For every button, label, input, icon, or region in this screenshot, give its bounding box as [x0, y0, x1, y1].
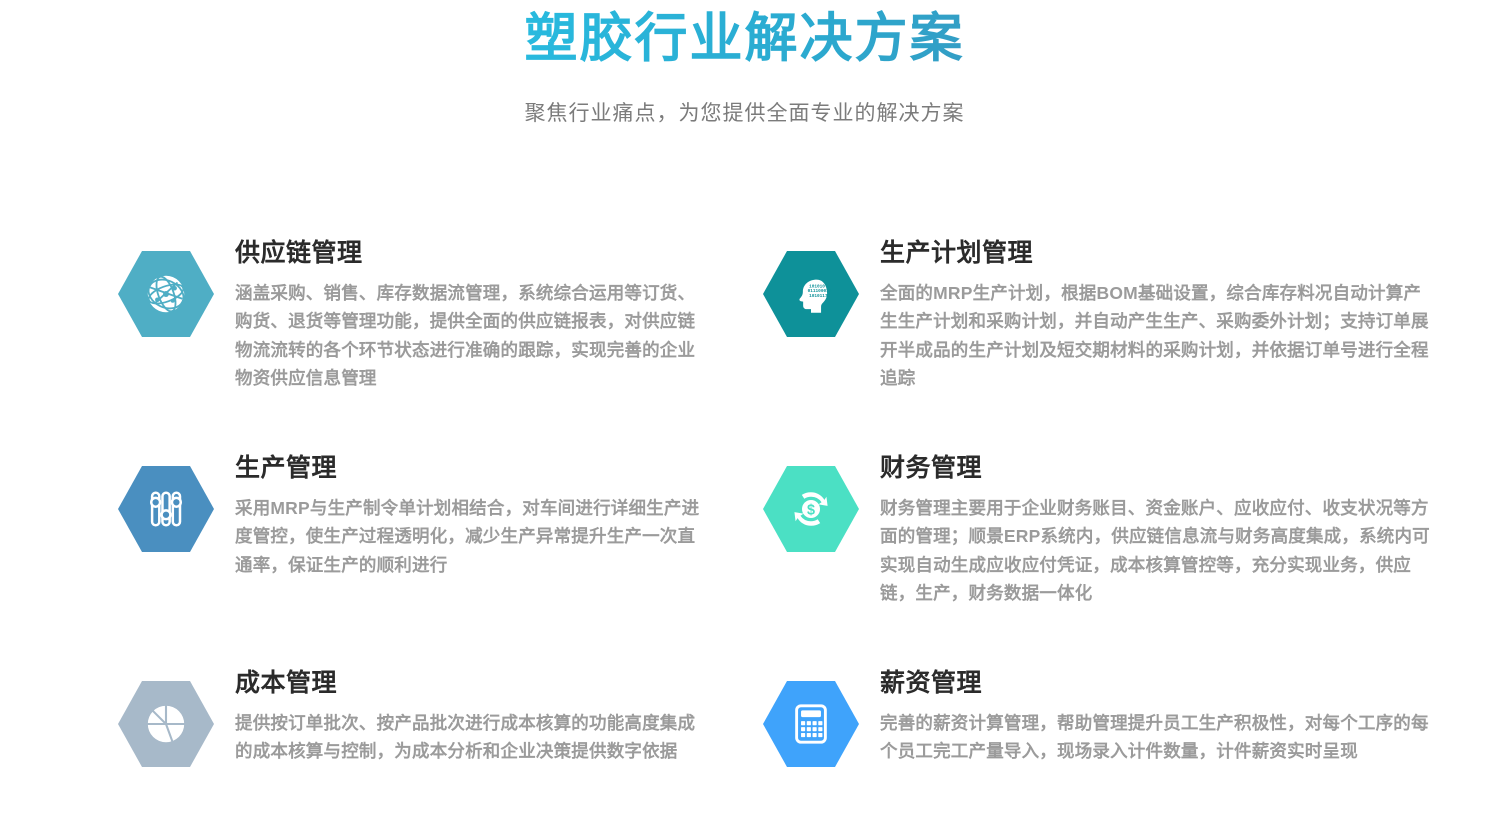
- feature-description: 提供按订单批次、按产品批次进行成本核算的功能高度集成的成本核算与控制，为成本分析…: [235, 709, 700, 766]
- pie-chart-icon: [118, 681, 214, 767]
- feature-title: 生产管理: [235, 453, 700, 483]
- page-subtitle: 聚焦行业痛点，为您提供全面专业的解决方案: [0, 97, 1489, 127]
- feature-description: 完善的薪资计算管理，帮助管理提升员工生产积极性，对每个工序的每个员工完工产量导入…: [880, 709, 1430, 766]
- svg-text:$: $: [807, 502, 815, 518]
- feature-title: 成本管理: [235, 668, 700, 698]
- feature-body: 生产计划管理 全面的MRP生产计划，根据BOM基础设置，综合库存料况自动计算产生…: [880, 236, 1430, 392]
- page-title: 塑胶行业解决方案: [0, 8, 1489, 71]
- feature-description: 涵盖采购、销售、库存数据流管理，系统综合运用等订货、购货、退货等管理功能，提供全…: [235, 279, 700, 392]
- feature-description: 财务管理主要用于企业财务账目、资金账户、应收应付、收支状况等方面的管理；顺景ER…: [880, 494, 1430, 607]
- solution-page: 塑胶行业解决方案 聚焦行业痛点，为您提供全面专业的解决方案: [0, 0, 1489, 836]
- feature-card-production[interactable]: 生产管理 采用MRP与生产制令单计划相结合，对车间进行详细生产进度管控，使生产过…: [118, 451, 763, 666]
- feature-body: 成本管理 提供按订单批次、按产品批次进行成本核算的功能高度集成的成本核算与控制，…: [235, 666, 700, 766]
- feature-body: 薪资管理 完善的薪资计算管理，帮助管理提升员工生产积极性，对每个工序的每个员工完…: [880, 666, 1430, 766]
- feature-card-supply-chain[interactable]: 供应链管理 涵盖采购、销售、库存数据流管理，系统综合运用等订货、购货、退货等管理…: [118, 236, 763, 451]
- feature-description: 采用MRP与生产制令单计划相结合，对车间进行详细生产进度管控，使生产过程透明化，…: [235, 494, 700, 579]
- feature-title: 供应链管理: [235, 238, 700, 268]
- feature-title: 薪资管理: [880, 668, 1430, 698]
- feature-body: 财务管理 财务管理主要用于企业财务账目、资金账户、应收应付、收支状况等方面的管理…: [880, 451, 1430, 607]
- feature-card-cost[interactable]: 成本管理 提供按订单批次、按产品批次进行成本核算的功能高度集成的成本核算与控制，…: [118, 666, 763, 767]
- head-binary-icon: 101010 011100010 1010117: [763, 251, 859, 337]
- feature-body: 供应链管理 涵盖采购、销售、库存数据流管理，系统综合运用等订货、购货、退货等管理…: [235, 236, 700, 392]
- svg-text:1010117: 1010117: [809, 294, 828, 299]
- feature-body: 生产管理 采用MRP与生产制令单计划相结合，对车间进行详细生产进度管控，使生产过…: [235, 451, 700, 579]
- feature-title: 财务管理: [880, 453, 1430, 483]
- page-header: 塑胶行业解决方案 聚焦行业痛点，为您提供全面专业的解决方案: [0, 0, 1489, 127]
- globe-network-icon: [118, 251, 214, 337]
- feature-card-production-plan[interactable]: 101010 011100010 1010117 生产计划管理 全面的MRP生产…: [763, 236, 1403, 451]
- feature-description: 全面的MRP生产计划，根据BOM基础设置，综合库存料况自动计算产生生产计划和采购…: [880, 279, 1430, 392]
- feature-grid: 供应链管理 涵盖采购、销售、库存数据流管理，系统综合运用等订货、购货、退货等管理…: [0, 236, 1489, 767]
- sliders-icon: [118, 466, 214, 552]
- feature-title: 生产计划管理: [880, 238, 1430, 268]
- feature-card-salary[interactable]: 薪资管理 完善的薪资计算管理，帮助管理提升员工生产积极性，对每个工序的每个员工完…: [763, 666, 1403, 767]
- dollar-refresh-icon: $: [763, 466, 859, 552]
- calculator-icon: [763, 681, 859, 767]
- feature-card-finance[interactable]: $ 财务管理 财务管理主要用于企业财务账目、资金账户、应收应付、收支状况等方面的…: [763, 451, 1403, 666]
